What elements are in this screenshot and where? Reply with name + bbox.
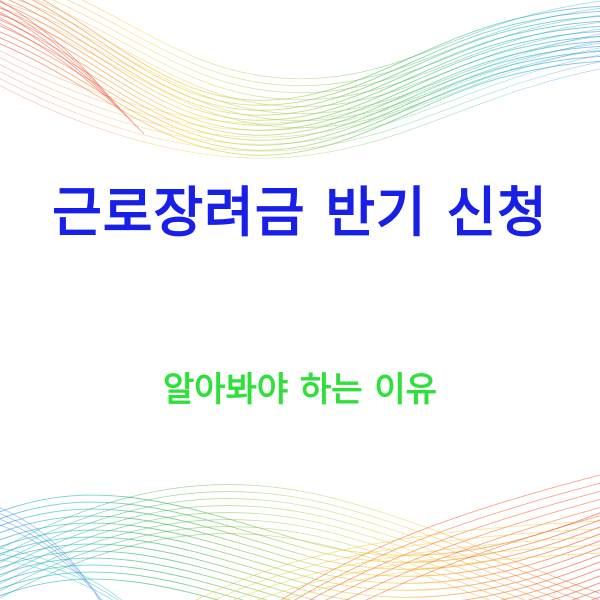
text-block: 근로장려금 반기 신청 알아봐야 하는 이유 — [0, 0, 600, 600]
thumbnail-canvas: 근로장려금 반기 신청 알아봐야 하는 이유 — [0, 0, 600, 600]
page-title: 근로장려금 반기 신청 — [0, 183, 600, 242]
page-subtitle: 알아봐야 하는 이유 — [0, 372, 600, 409]
